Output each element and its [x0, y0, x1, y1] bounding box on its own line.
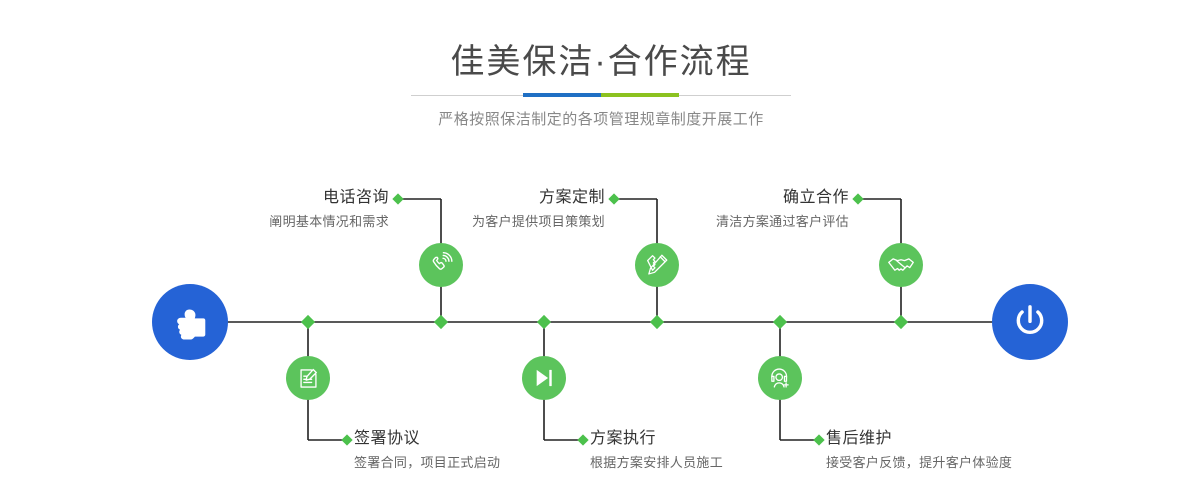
step-title: 签署协议 [354, 429, 500, 448]
process-flow-diagram: 电话咨询 阐明基本情况和需求 签署协议 签署合同，项目正式启动 [0, 0, 1202, 502]
step-desc: 清洁方案通过客户评估 [716, 214, 849, 230]
step-title: 方案执行 [590, 429, 723, 448]
step-label-after-sales: 售后维护 接受客户反馈，提升客户体验度 [826, 429, 1012, 471]
label-diamond [341, 434, 352, 445]
label-diamonds [341, 193, 863, 445]
play-skip-icon [531, 365, 557, 391]
timeline-diamond [434, 315, 448, 329]
step-label-phone-consult: 电话咨询 阐明基本情况和需求 [269, 188, 389, 230]
flow-connectors [0, 0, 1202, 502]
flow-end-node[interactable] [992, 284, 1068, 360]
phone-call-icon [428, 252, 454, 278]
step-label-establish-coop: 确立合作 清洁方案通过客户评估 [716, 188, 849, 230]
step-desc: 根据方案安排人员施工 [590, 455, 723, 471]
handshake-icon [887, 251, 915, 279]
timeline-diamond [537, 315, 551, 329]
pencil-ruler-icon [644, 252, 670, 278]
step-title: 方案定制 [472, 188, 605, 207]
label-diamond [852, 193, 863, 204]
step-node-phone-consult[interactable] [419, 243, 463, 287]
timeline-diamond [894, 315, 908, 329]
step-title: 售后维护 [826, 429, 1012, 448]
step-desc: 接受客户反馈，提升客户体验度 [826, 455, 1012, 471]
label-diamond [608, 193, 619, 204]
power-button-icon [1008, 300, 1052, 344]
document-edit-icon [296, 366, 321, 391]
label-diamond [813, 434, 824, 445]
step-node-plan-execute[interactable] [522, 356, 566, 400]
step-title: 电话咨询 [269, 188, 389, 207]
headset-support-icon [767, 365, 793, 391]
timeline-diamond [301, 315, 315, 329]
step-desc: 为客户提供项目策策划 [472, 214, 605, 230]
label-diamond [392, 193, 403, 204]
step-node-establish-coop[interactable] [879, 243, 923, 287]
step-label-plan-custom: 方案定制 为客户提供项目策策划 [472, 188, 605, 230]
step-desc: 阐明基本情况和需求 [269, 214, 389, 230]
pointing-hand-icon [169, 301, 211, 343]
timeline-diamond [773, 315, 787, 329]
step-label-sign-agreement: 签署协议 签署合同，项目正式启动 [354, 429, 500, 471]
step-node-plan-custom[interactable] [635, 243, 679, 287]
infographic-canvas: 佳美保洁·合作流程 严格按照保洁制定的各项管理规章制度开展工作 [0, 0, 1202, 502]
label-diamond [577, 434, 588, 445]
flow-start-node[interactable] [152, 284, 228, 360]
step-title: 确立合作 [716, 188, 849, 207]
step-node-after-sales[interactable] [758, 356, 802, 400]
step-desc: 签署合同，项目正式启动 [354, 455, 500, 471]
step-node-sign-agreement[interactable] [286, 356, 330, 400]
timeline-diamond [650, 315, 664, 329]
step-label-plan-execute: 方案执行 根据方案安排人员施工 [590, 429, 723, 471]
